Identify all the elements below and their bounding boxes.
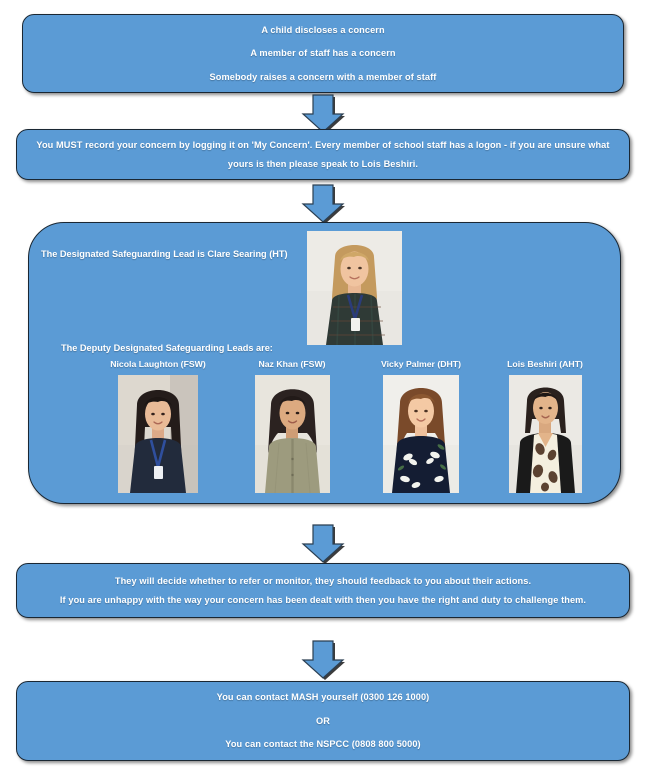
- down-arrow-1: [301, 94, 345, 134]
- contact-mash-line: You can contact MASH yourself (0300 126 …: [217, 691, 430, 703]
- concerns-lines: A child discloses a concern A member of …: [23, 15, 623, 92]
- down-arrow-4: [301, 640, 345, 680]
- external-contacts-box: You can contact MASH yourself (0300 126 …: [16, 681, 630, 761]
- contact-lines: You can contact MASH yourself (0300 126 …: [17, 682, 629, 760]
- decision-line-1: They will decide whether to refer or mon…: [115, 575, 531, 587]
- portrait-naz-khan: [255, 375, 330, 493]
- safeguarding-flowchart: A child discloses a concern A member of …: [0, 0, 645, 768]
- portrait-clare-searing: [307, 231, 402, 345]
- record-line-1: You MUST record your concern by logging …: [36, 138, 609, 152]
- deputy-lead-nicola-laughton: Nicola Laughton (FSW): [79, 359, 237, 493]
- decision-lines: They will decide whether to refer or mon…: [17, 564, 629, 617]
- portrait-lois-beshiri: [509, 375, 582, 493]
- deputy-leads-row: Nicola Laughton (FSW): [29, 359, 620, 499]
- ddsl-heading: The Deputy Designated Safeguarding Leads…: [61, 343, 273, 353]
- concerns-box: A child discloses a concern A member of …: [22, 14, 624, 93]
- down-arrow-3: [301, 524, 345, 564]
- safeguarding-leads-box: The Designated Safeguarding Lead is Clar…: [28, 222, 621, 504]
- portrait-nicola-laughton: [118, 375, 198, 493]
- dsl-heading: The Designated Safeguarding Lead is Clar…: [41, 249, 288, 259]
- concerns-line-3: Somebody raises a concern with a member …: [210, 71, 437, 83]
- concerns-line-1: A child discloses a concern: [261, 24, 384, 36]
- deputy-name: Lois Beshiri (AHT): [469, 359, 621, 369]
- contact-nspcc-line: You can contact the NSPCC (0808 800 5000…: [225, 738, 420, 750]
- deputy-name: Nicola Laughton (FSW): [79, 359, 237, 369]
- portrait-vicky-palmer: [383, 375, 459, 493]
- decision-line-2: If you are unhappy with the way your con…: [60, 594, 586, 606]
- record-concern-box: You MUST record your concern by logging …: [16, 129, 630, 180]
- deputy-lead-lois-beshiri: Lois Beshiri (AHT): [469, 359, 621, 493]
- concerns-line-2: A member of staff has a concern: [250, 47, 395, 59]
- record-lines: You MUST record your concern by logging …: [17, 130, 629, 179]
- record-line-2: yours is then please speak to Lois Beshi…: [228, 157, 418, 171]
- contact-or-line: OR: [316, 715, 330, 727]
- decision-feedback-box: They will decide whether to refer or mon…: [16, 563, 630, 618]
- down-arrow-2: [301, 184, 345, 224]
